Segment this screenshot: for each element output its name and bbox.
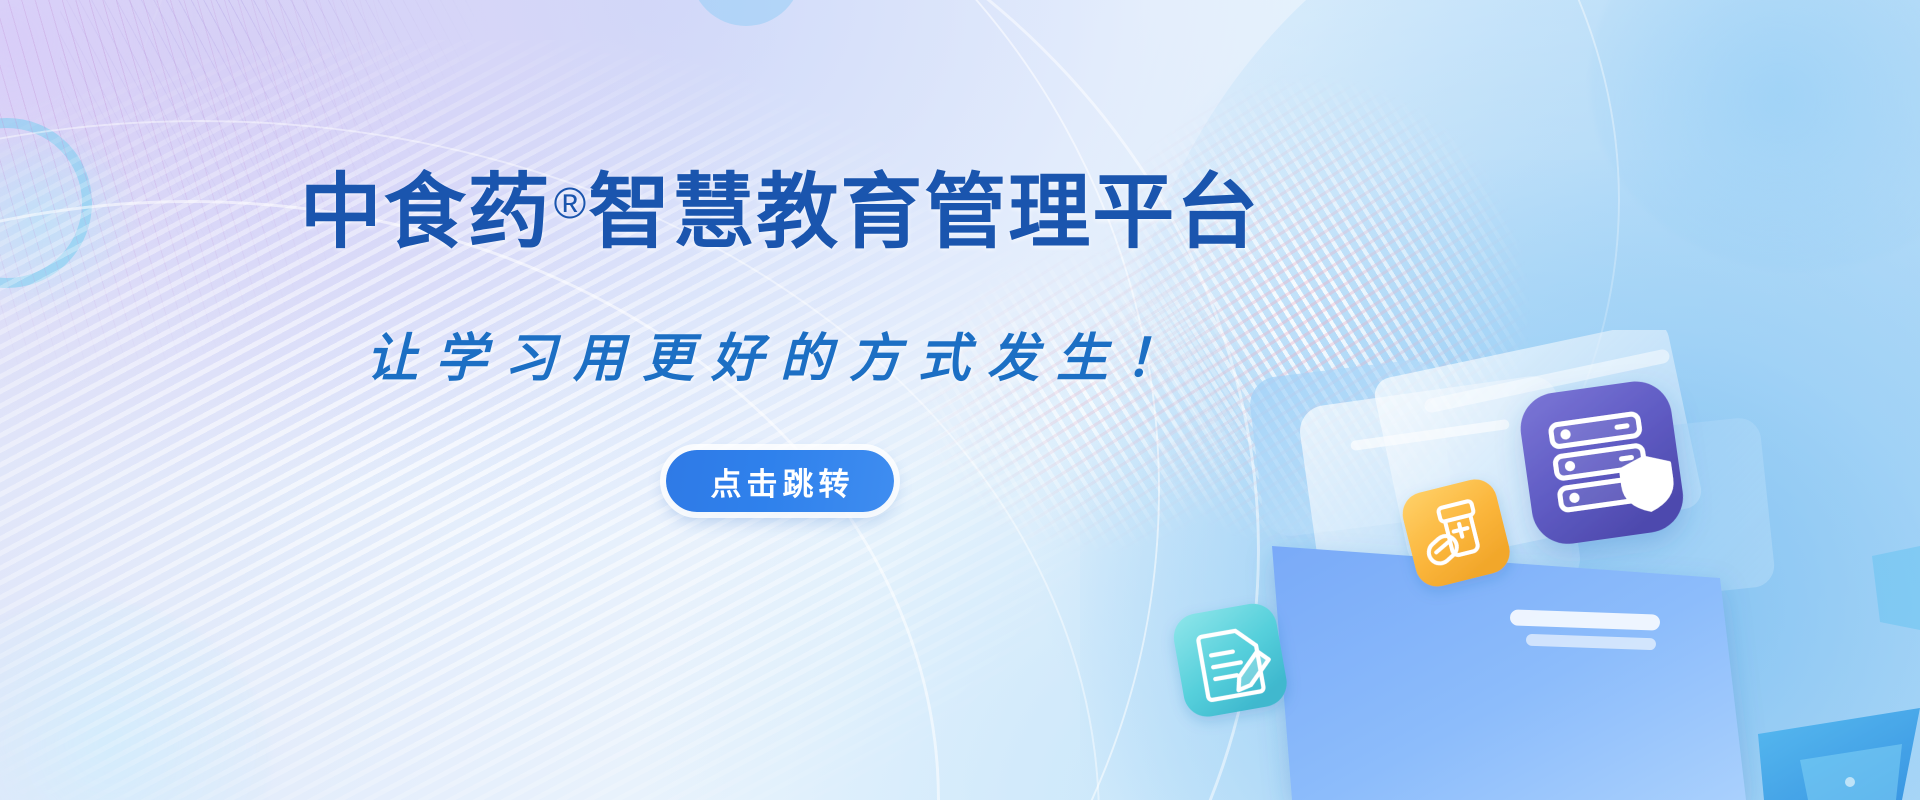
page-title-brand: 中食药 [300,167,552,258]
cta-container: 点击跳转 [0,450,1560,512]
jump-button[interactable]: 点击跳转 [666,450,894,512]
registered-trademark-icon: ® [554,179,586,228]
page-title-suffix: 智慧教育管理平台 [588,167,1260,258]
hero-content: 中食药®智慧教育管理平台 让学习用更好的方式发生！ 点击跳转 [0,0,1920,800]
page-title: 中食药®智慧教育管理平台 [0,172,1560,254]
page-subtitle: 让学习用更好的方式发生！ [0,316,1560,391]
hero-banner: 中食药®智慧教育管理平台 让学习用更好的方式发生！ 点击跳转 [0,0,1920,800]
